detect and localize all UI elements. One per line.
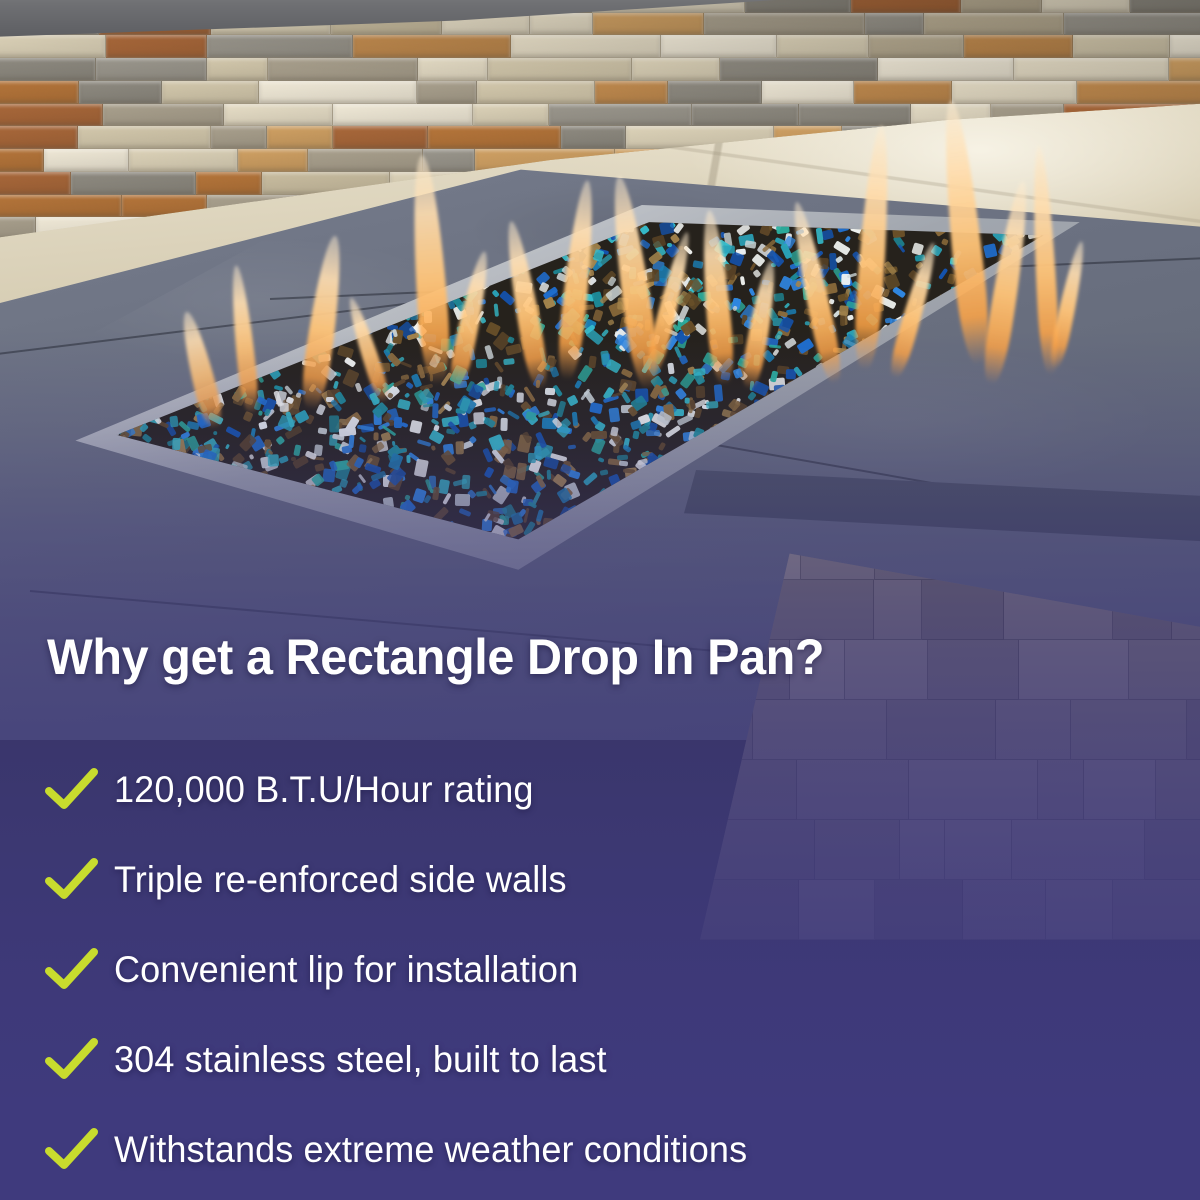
promo-graphic: Why get a Rectangle Drop In Pan? 120,000…	[0, 0, 1200, 1200]
checkmark-icon	[44, 1037, 100, 1083]
feature-item: 120,000 B.T.U/Hour rating	[44, 745, 1144, 835]
checkmark-icon	[44, 857, 100, 903]
feature-item: 304 stainless steel, built to last	[44, 1015, 1144, 1105]
feature-label: Triple re-enforced side walls	[114, 859, 567, 901]
feature-label: 304 stainless steel, built to last	[114, 1039, 607, 1081]
checkmark-icon	[44, 767, 100, 813]
checkmark-icon	[44, 947, 100, 993]
feature-item: Withstands extreme weather conditions	[44, 1105, 1144, 1195]
feature-list: 120,000 B.T.U/Hour ratingTriple re-enfor…	[44, 745, 1144, 1195]
feature-item: Triple re-enforced side walls	[44, 835, 1144, 925]
feature-label: Withstands extreme weather conditions	[114, 1129, 747, 1171]
feature-label: Convenient lip for installation	[114, 949, 578, 991]
text-content: Why get a Rectangle Drop In Pan? 120,000…	[0, 0, 1200, 1200]
feature-item: Convenient lip for installation	[44, 925, 1144, 1015]
feature-label: 120,000 B.T.U/Hour rating	[114, 769, 534, 811]
page-title: Why get a Rectangle Drop In Pan?	[47, 628, 824, 686]
checkmark-icon	[44, 1127, 100, 1173]
